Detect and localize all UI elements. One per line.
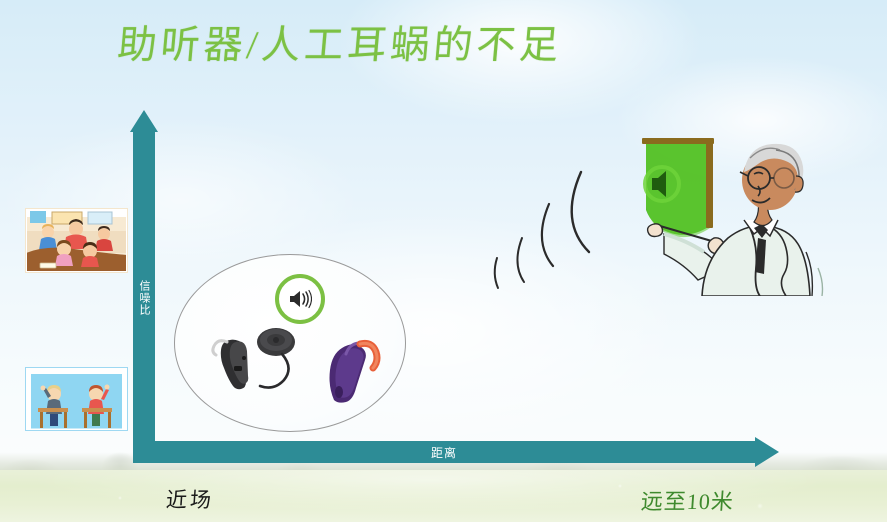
page-title: 助听器/人工耳蜗的不足 [116, 14, 566, 70]
students-desks-thumbnail [25, 367, 128, 431]
green-board [642, 138, 714, 237]
doctor-presenter-illustration [618, 128, 887, 296]
x-axis-arrowhead [755, 437, 779, 467]
devices-group [208, 322, 388, 418]
behind-the-ear-hearing-aid [330, 343, 378, 403]
y-axis-label: 信噪比 [133, 270, 155, 326]
speaker-volume-icon [275, 274, 325, 324]
slide-canvas: 助听器/人工耳蜗的不足 [0, 0, 887, 522]
background-meadow-detail [0, 470, 887, 522]
cochlear-implant-processor [213, 328, 295, 389]
caption-near-field: 近场 [165, 484, 215, 514]
doctor-svg [618, 128, 887, 296]
students-desks-illustration [26, 368, 127, 430]
classroom-thumbnail [25, 208, 128, 273]
caption-far-distance: 远至10米 [640, 484, 735, 516]
y-axis-arrowhead [130, 110, 158, 132]
speaker-glyph [288, 289, 312, 309]
x-axis-label: 距离 [133, 441, 755, 463]
hearing-aid-devices [208, 322, 388, 418]
classroom-illustration [26, 209, 127, 272]
